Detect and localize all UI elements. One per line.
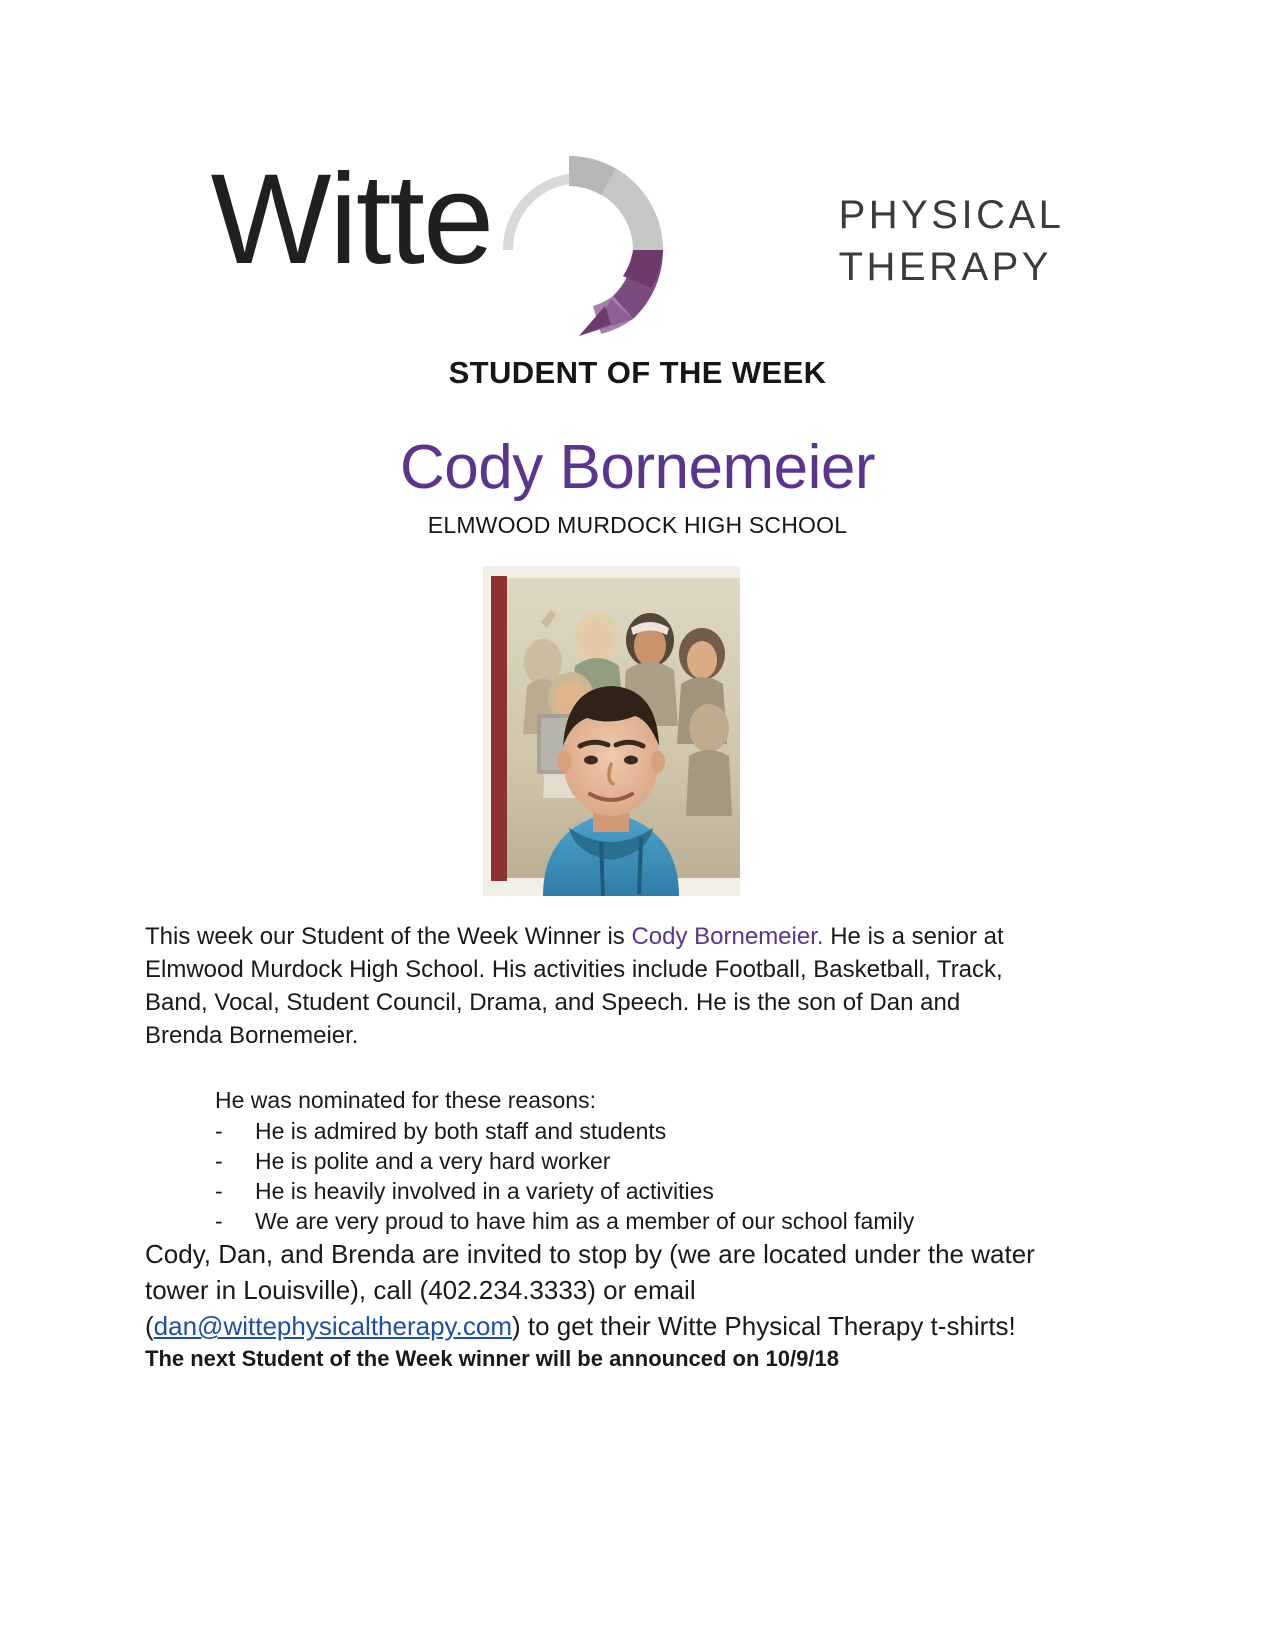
body-content: This week our Student of the Week Winner… xyxy=(145,920,1035,1374)
list-item: - He is heavily involved in a variety of… xyxy=(215,1176,1035,1206)
list-item: - We are very proud to have him as a mem… xyxy=(215,1206,1035,1236)
brand-logo: Witte PHYSICAL xyxy=(0,146,1275,331)
list-item-label: He is heavily involved in a variety of a… xyxy=(255,1176,714,1206)
intro-text-before: This week our Student of the Week Winner… xyxy=(145,923,631,950)
list-item-label: He is polite and a very hard worker xyxy=(255,1146,610,1176)
brand-tagline: PHYSICAL THERAPY xyxy=(839,190,1065,292)
student-photo xyxy=(483,566,740,896)
brand-wordmark: Witte xyxy=(211,156,493,284)
student-name-heading: Cody Bornemeier xyxy=(0,432,1275,503)
list-item-label: He is admired by both staff and students xyxy=(255,1116,666,1146)
reasons-lead: He was nominated for these reasons: xyxy=(215,1085,1035,1116)
circular-swoosh-icon xyxy=(483,146,673,336)
list-item: - He is admired by both staff and studen… xyxy=(215,1116,1035,1146)
school-name: ELMWOOD MURDOCK HIGH SCHOOL xyxy=(0,512,1275,539)
brand-tagline-line2: THERAPY xyxy=(839,242,1065,293)
bullet-marker: - xyxy=(215,1176,255,1206)
list-item: - He is polite and a very hard worker xyxy=(215,1146,1035,1176)
invite-text-after: ) to get their Witte Physical Therapy t-… xyxy=(512,1311,1016,1341)
bullet-marker: - xyxy=(215,1116,255,1146)
next-announcement: The next Student of the Week winner will… xyxy=(145,1344,1035,1374)
brand-logo-inner: Witte PHYSICAL xyxy=(211,146,1065,331)
intro-student-name: Cody Bornemeier. xyxy=(631,923,823,950)
logo-mark: Witte xyxy=(211,146,811,331)
nomination-reasons: He was nominated for these reasons: - He… xyxy=(215,1085,1035,1236)
student-photo-image xyxy=(483,566,740,896)
brand-tagline-line1: PHYSICAL xyxy=(839,190,1065,241)
program-title: STUDENT OF THE WEEK xyxy=(0,355,1275,391)
intro-paragraph: This week our Student of the Week Winner… xyxy=(145,920,1035,1052)
list-item-label: We are very proud to have him as a membe… xyxy=(255,1206,914,1236)
bullet-marker: - xyxy=(215,1206,255,1236)
invitation-paragraph: Cody, Dan, and Brenda are invited to sto… xyxy=(145,1236,1035,1344)
bullet-marker: - xyxy=(215,1146,255,1176)
flyer-page: Witte PHYSICAL xyxy=(0,0,1275,1650)
email-link[interactable]: dan@wittephysicaltherapy.com xyxy=(154,1311,512,1341)
